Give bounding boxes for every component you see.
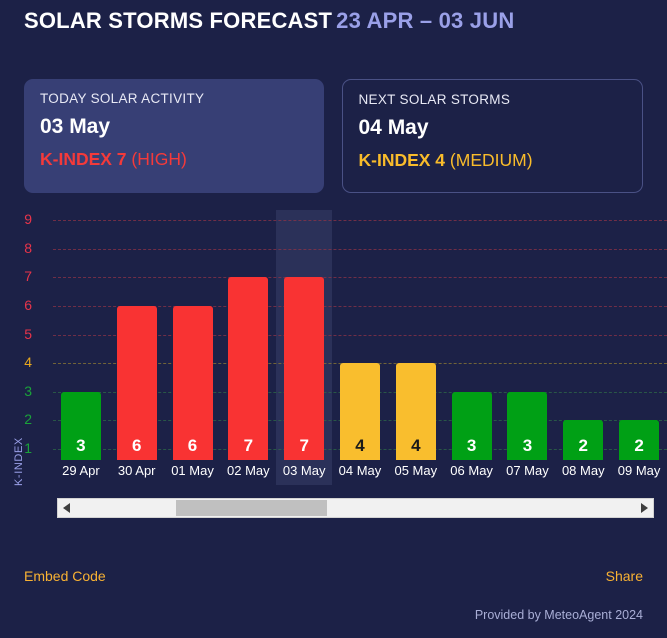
- bar-01-may[interactable]: 6: [173, 306, 213, 460]
- today-card-label: TODAY SOLAR ACTIVITY: [40, 91, 308, 106]
- bar-value: 2: [634, 437, 643, 454]
- today-solar-activity-card[interactable]: TODAY SOLAR ACTIVITY 03 May K-INDEX 7 (H…: [24, 79, 324, 193]
- bar-02-may[interactable]: 7: [228, 277, 268, 460]
- bar-value: 7: [299, 437, 308, 454]
- next-kindex-level: (MEDIUM): [450, 150, 533, 170]
- page-title: SOLAR STORMS FORECAST: [24, 8, 332, 33]
- x-tick-label-04-may: 04 May: [332, 463, 388, 478]
- bar-value: 3: [76, 437, 85, 454]
- y-tick-label-7: 7: [10, 268, 32, 284]
- bar-value: 6: [188, 437, 197, 454]
- x-tick-label-29-apr: 29 Apr: [53, 463, 109, 478]
- y-tick-label-9: 9: [10, 211, 32, 227]
- x-tick-label-05-may: 05 May: [388, 463, 444, 478]
- bar-06-may[interactable]: 3: [452, 392, 492, 460]
- chart-x-axis-labels: 29 Apr30 Apr01 May02 May03 May04 May05 M…: [53, 463, 667, 485]
- today-card-date: 03 May: [40, 115, 308, 139]
- bar-value: 4: [411, 437, 420, 454]
- summary-cards: TODAY SOLAR ACTIVITY 03 May K-INDEX 7 (H…: [24, 79, 643, 193]
- y-tick-label-4: 4: [10, 354, 32, 370]
- next-card-date: 04 May: [359, 116, 627, 140]
- embed-code-link[interactable]: Embed Code: [24, 568, 106, 584]
- scrollbar-thumb[interactable]: [176, 500, 327, 516]
- x-tick-label-06-may: 06 May: [444, 463, 500, 478]
- y-tick-label-1: 1: [10, 440, 32, 456]
- bar-04-may[interactable]: 4: [340, 363, 380, 460]
- next-kindex-value: K-INDEX 4: [359, 150, 446, 170]
- x-tick-label-07-may: 07 May: [500, 463, 556, 478]
- share-link[interactable]: Share: [606, 568, 643, 584]
- next-card-kindex: K-INDEX 4 (MEDIUM): [359, 150, 627, 171]
- bar-value: 6: [132, 437, 141, 454]
- scroll-left-arrow-icon[interactable]: [58, 499, 75, 517]
- today-card-kindex: K-INDEX 7 (HIGH): [40, 149, 308, 170]
- page-title-date-range: 23 APR – 03 JUN: [336, 8, 514, 33]
- y-tick-label-2: 2: [10, 411, 32, 427]
- bar-03-may[interactable]: 7: [284, 277, 324, 460]
- x-tick-label-09-may: 09 May: [611, 463, 667, 478]
- page-header: SOLAR STORMS FORECAST23 APR – 03 JUN: [24, 8, 514, 34]
- y-tick-label-8: 8: [10, 240, 32, 256]
- bar-value: 3: [523, 437, 532, 454]
- bar-value: 7: [244, 437, 253, 454]
- footer-links: Embed Code Share: [24, 568, 643, 584]
- bar-value: 4: [355, 437, 364, 454]
- x-tick-label-30-apr: 30 Apr: [109, 463, 165, 478]
- x-tick-label-01-may: 01 May: [165, 463, 221, 478]
- bar-30-apr[interactable]: 6: [117, 306, 157, 460]
- chart-bars: 36677443322: [53, 210, 667, 460]
- x-tick-label-08-may: 08 May: [555, 463, 611, 478]
- bar-07-may[interactable]: 3: [507, 392, 547, 460]
- bar-value: 2: [579, 437, 588, 454]
- chart-horizontal-scrollbar[interactable]: [57, 498, 654, 518]
- chart-plot-area: 123456789 36677443322: [41, 210, 667, 460]
- x-tick-label-02-may: 02 May: [220, 463, 276, 478]
- x-tick-label-03-may: 03 May: [276, 463, 332, 478]
- bar-08-may[interactable]: 2: [563, 420, 603, 460]
- scroll-right-arrow-icon[interactable]: [636, 499, 653, 517]
- next-solar-storms-card[interactable]: NEXT SOLAR STORMS 04 May K-INDEX 4 (MEDI…: [342, 79, 644, 193]
- today-kindex-level: (HIGH): [131, 149, 186, 169]
- y-tick-label-5: 5: [10, 326, 32, 342]
- next-card-label: NEXT SOLAR STORMS: [359, 92, 627, 107]
- bar-09-may[interactable]: 2: [619, 420, 659, 460]
- bar-05-may[interactable]: 4: [396, 363, 436, 460]
- today-kindex-value: K-INDEX 7: [40, 149, 127, 169]
- bar-value: 3: [467, 437, 476, 454]
- y-tick-label-3: 3: [10, 383, 32, 399]
- provided-by-text: Provided by MeteoAgent 2024: [475, 608, 643, 622]
- bar-29-apr[interactable]: 3: [61, 392, 101, 460]
- y-tick-label-6: 6: [10, 297, 32, 313]
